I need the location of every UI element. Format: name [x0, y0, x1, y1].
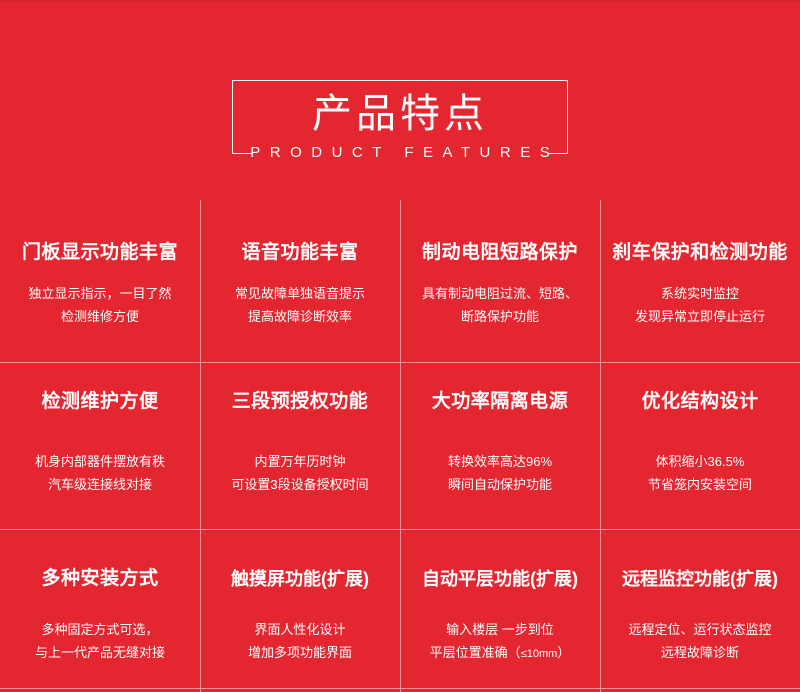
feature-description-line: 界面人性化设计 — [248, 618, 352, 641]
feature-card-installation-methods[interactable]: 多种安装方式 多种固定方式可选， 与上一代产品无缝对接 — [0, 529, 200, 692]
feature-card-remote-monitoring[interactable]: 远程监控功能(扩展) 远程定位、运行状态监控 远程故障诊断 — [600, 529, 800, 692]
feature-description: 多种固定方式可选， 与上一代产品无缝对接 — [35, 618, 165, 664]
feature-description-line: 常见故障单独语音提示 — [235, 282, 365, 305]
feature-title: 三段预授权功能 — [232, 389, 369, 415]
feature-description-line: 独立显示指示，一目了然 — [28, 282, 171, 305]
feature-description: 远程定位、运行状态监控 远程故障诊断 — [628, 618, 771, 664]
leveling-accuracy-suffix: ） — [557, 645, 570, 660]
feature-card-optimized-structure[interactable]: 优化结构设计 体积缩小36.5% 节省笼内安装空间 — [600, 362, 800, 529]
feature-title: 远程监控功能(扩展) — [622, 566, 778, 592]
feature-title: 优化结构设计 — [641, 389, 758, 415]
feature-description-line: 断路保护功能 — [422, 305, 578, 328]
feature-card-touchscreen[interactable]: 触摸屏功能(扩展) 界面人性化设计 增加多项功能界面 — [200, 529, 400, 692]
feature-description: 独立显示指示，一目了然 检测维修方便 — [28, 282, 171, 328]
feature-description-line: 内置万年历时钟 — [231, 450, 368, 473]
feature-card-isolated-power-supply[interactable]: 大功率隔离电源 转换效率高达96% 瞬间自动保护功能 — [400, 362, 600, 529]
feature-description-line: 节省笼内安装空间 — [648, 473, 752, 496]
feature-description: 常见故障单独语音提示 提高故障诊断效率 — [235, 282, 365, 328]
feature-description-line: 发现异常立即停止运行 — [635, 305, 765, 328]
feature-title: 多种安装方式 — [41, 566, 158, 592]
feature-description-line: 检测维修方便 — [28, 305, 171, 328]
feature-title: 大功率隔离电源 — [432, 389, 569, 415]
feature-description: 输入楼层 一步到位 平层位置准确（≤10mm） — [430, 618, 571, 666]
feature-description-line: 远程故障诊断 — [628, 641, 771, 664]
feature-description-line: 与上一代产品无缝对接 — [35, 641, 165, 664]
feature-description-line: 转换效率高达96% — [448, 450, 552, 473]
feature-description-line: 系统实时监控 — [635, 282, 765, 305]
feature-description-line: 体积缩小36.5% — [648, 450, 752, 473]
grid-horizontal-divider — [0, 362, 800, 363]
feature-description-line: 多种固定方式可选， — [35, 618, 165, 641]
feature-title: 自动平层功能(扩展) — [422, 566, 578, 592]
feature-card-door-display[interactable]: 门板显示功能丰富 独立显示指示，一目了然 检测维修方便 — [0, 200, 200, 362]
feature-description: 机身内部器件摆放有秩 汽车级连接线对接 — [35, 450, 165, 496]
feature-description: 转换效率高达96% 瞬间自动保护功能 — [448, 450, 552, 496]
grid-vertical-divider — [600, 200, 601, 692]
feature-description: 内置万年历时钟 可设置3段设备授权时间 — [231, 450, 368, 496]
grid-vertical-divider — [400, 200, 401, 692]
feature-description-line: 机身内部器件摆放有秩 — [35, 450, 165, 473]
page-header: 产品特点 PRODUCT FEATURES — [0, 0, 800, 200]
feature-title: 门板显示功能丰富 — [22, 240, 178, 266]
feature-description: 界面人性化设计 增加多项功能界面 — [248, 618, 352, 664]
feature-title: 制动电阻短路保护 — [422, 240, 578, 266]
feature-description-line: 具有制动电阻过流、短路、 — [422, 282, 578, 305]
feature-description-line-with-note: 平层位置准确（≤10mm） — [430, 641, 571, 666]
leveling-accuracy-value: ≤10mm — [521, 648, 558, 660]
feature-description-line: 可设置3段设备授权时间 — [231, 473, 368, 496]
feature-description: 系统实时监控 发现异常立即停止运行 — [635, 282, 765, 328]
feature-description-line: 远程定位、运行状态监控 — [628, 618, 771, 641]
page-title: 产品特点 — [0, 86, 800, 142]
leveling-accuracy-prefix: 平层位置准确（ — [430, 645, 521, 660]
feature-description-line: 增加多项功能界面 — [248, 641, 352, 664]
feature-card-three-stage-authorization[interactable]: 三段预授权功能 内置万年历时钟 可设置3段设备授权时间 — [200, 362, 400, 529]
feature-card-brake-resistor-protection[interactable]: 制动电阻短路保护 具有制动电阻过流、短路、 断路保护功能 — [400, 200, 600, 362]
feature-grid: 门板显示功能丰富 独立显示指示，一目了然 检测维修方便 语音功能丰富 常见故障单… — [0, 200, 800, 692]
grid-vertical-divider — [200, 200, 201, 692]
feature-title: 检测维护方便 — [41, 389, 158, 415]
feature-card-brake-detection[interactable]: 刹车保护和检测功能 系统实时监控 发现异常立即停止运行 — [600, 200, 800, 362]
feature-description: 体积缩小36.5% 节省笼内安装空间 — [648, 450, 752, 496]
feature-description-line: 提高故障诊断效率 — [235, 305, 365, 328]
grid-horizontal-divider — [0, 688, 800, 689]
feature-description: 具有制动电阻过流、短路、 断路保护功能 — [422, 282, 578, 328]
feature-card-voice[interactable]: 语音功能丰富 常见故障单独语音提示 提高故障诊断效率 — [200, 200, 400, 362]
feature-title: 语音功能丰富 — [241, 240, 358, 266]
feature-description-line: 汽车级连接线对接 — [35, 473, 165, 496]
feature-title: 触摸屏功能(扩展) — [231, 566, 369, 592]
page-subtitle: PRODUCT FEATURES — [0, 142, 800, 164]
feature-card-auto-leveling[interactable]: 自动平层功能(扩展) 输入楼层 一步到位 平层位置准确（≤10mm） — [400, 529, 600, 692]
grid-horizontal-divider — [0, 529, 800, 530]
feature-title: 刹车保护和检测功能 — [612, 240, 788, 266]
feature-description-line: 瞬间自动保护功能 — [448, 473, 552, 496]
feature-card-maintenance[interactable]: 检测维护方便 机身内部器件摆放有秩 汽车级连接线对接 — [0, 362, 200, 529]
feature-description-line: 输入楼层 一步到位 — [430, 618, 571, 641]
